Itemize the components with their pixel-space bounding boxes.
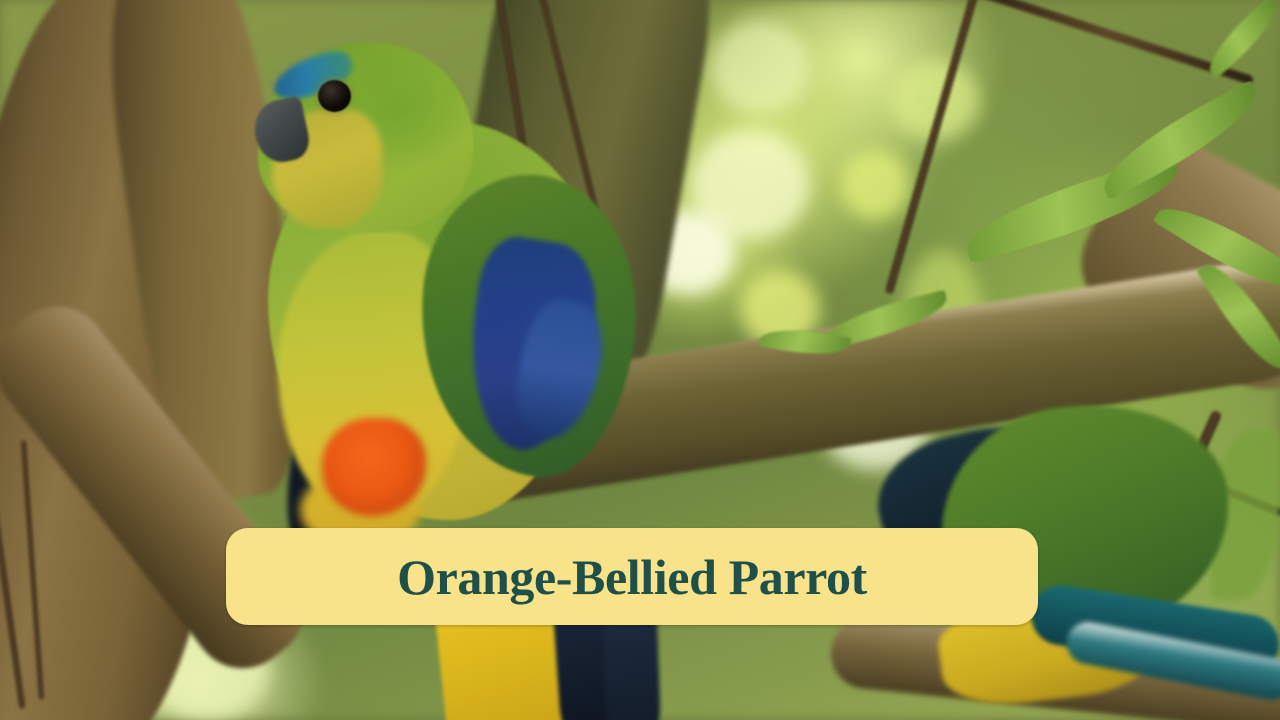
photo-canvas: Orange-Bellied Parrot	[0, 0, 1280, 720]
caption-banner: Orange-Bellied Parrot	[226, 528, 1038, 625]
caption-title: Orange-Bellied Parrot	[397, 552, 867, 602]
parrot-eye	[318, 80, 351, 112]
